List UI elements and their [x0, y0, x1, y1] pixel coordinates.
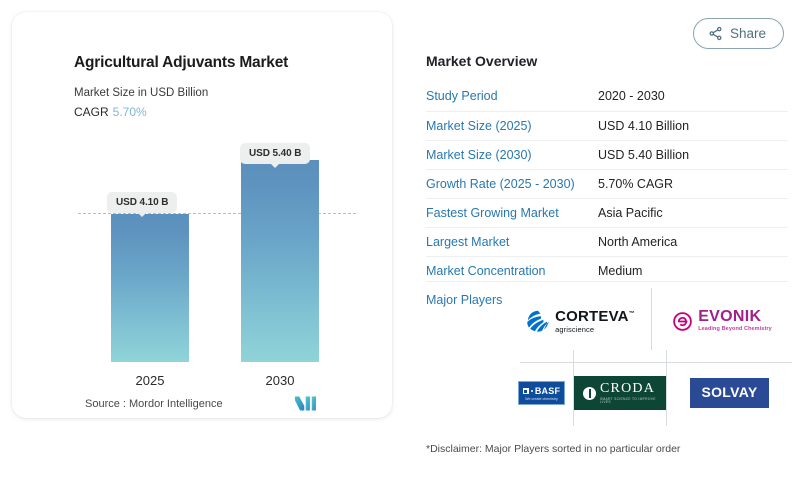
evonik-logo: EVONIK Leading Beyond Chemistry: [672, 309, 772, 333]
share-nodes-icon: [708, 26, 723, 41]
row-value-market-size-2030: USD 5.40 Billion: [598, 140, 788, 169]
row-value-growth-rate: 5.70% CAGR: [598, 169, 788, 198]
table-row: Growth Rate (2025 - 2030) 5.70% CAGR: [426, 169, 788, 198]
share-button[interactable]: Share: [693, 18, 784, 49]
corteva-wordmark: CORTEVA™: [555, 309, 635, 324]
croda-wordmark: CRODA: [600, 382, 657, 396]
table-row: Market Size (2030) USD 5.40 Billion: [426, 140, 788, 169]
corteva-logo: CORTEVA™ agriscience: [526, 309, 635, 334]
basf-square-icon: [523, 388, 529, 394]
market-overview-panel: Share Market Overview Study Period 2020 …: [424, 0, 792, 482]
basf-row: BASF: [523, 386, 560, 396]
bar-label-2025: USD 4.10 B: [107, 192, 177, 213]
table-row: Market Size (2025) USD 4.10 Billion: [426, 111, 788, 140]
bar-2025[interactable]: [111, 214, 189, 362]
grid-divider-horizontal: [520, 362, 792, 363]
table-row: Largest Market North America: [426, 227, 788, 256]
x-tick-2030: 2030: [241, 373, 319, 388]
croda-logo: CRODA SMART SCIENCE TO IMPROVE LIVES: [574, 376, 666, 411]
table-row: Fastest Growing Market Asia Pacific: [426, 198, 788, 227]
basf-dot-icon: [531, 390, 533, 392]
table-row: Study Period 2020 - 2030: [426, 82, 788, 111]
player-cell-evonik[interactable]: EVONIK Leading Beyond Chemistry: [652, 292, 792, 350]
market-overview-table: Study Period 2020 - 2030 Market Size (20…: [426, 82, 788, 285]
row-key-growth-rate: Growth Rate (2025 - 2030): [426, 169, 598, 198]
row-value-fastest-growing-market: Asia Pacific: [598, 198, 788, 227]
source-label: Source : Mordor Intelligence: [85, 398, 223, 410]
solvay-logo: SOLVAY: [690, 378, 768, 408]
row-key-market-size-2025: Market Size (2025): [426, 111, 598, 140]
player-cell-corteva[interactable]: CORTEVA™ agriscience: [510, 292, 651, 350]
chart-card: Agricultural Adjuvants Market Market Siz…: [12, 12, 392, 418]
panel-heading: Market Overview: [426, 53, 537, 69]
croda-emblem-icon: [583, 387, 596, 400]
row-key-study-period: Study Period: [426, 82, 598, 111]
bar-chart-plot: USD 4.10 B USD 5.40 B 2025 2030: [12, 12, 392, 418]
bar-label-2030: USD 5.40 B: [240, 143, 310, 164]
row-key-fastest-growing-market: Fastest Growing Market: [426, 198, 598, 227]
players-divider: [426, 281, 788, 282]
solvay-wordmark: SOLVAY: [701, 384, 757, 400]
corteva-swoosh-icon: [526, 309, 550, 333]
player-cell-croda[interactable]: CRODA SMART SCIENCE TO IMPROVE LIVES: [574, 368, 666, 418]
evonik-text: EVONIK Leading Beyond Chemistry: [698, 309, 772, 333]
evonik-wordmark: EVONIK: [698, 309, 772, 325]
row-value-market-size-2025: USD 4.10 Billion: [598, 111, 788, 140]
corteva-word-text: CORTEVA: [555, 308, 629, 325]
basf-logo: BASF We create chemistry: [518, 381, 565, 405]
basf-tagline: We create chemistry: [525, 397, 558, 401]
player-cell-solvay[interactable]: SOLVAY: [667, 368, 792, 418]
player-cell-basf[interactable]: BASF We create chemistry: [510, 368, 573, 418]
mordor-intelligence-logo: [294, 395, 322, 412]
evonik-e-circle-icon: [672, 311, 693, 332]
major-players-grid: CORTEVA™ agriscience EVONIK Leading Beyo…: [510, 288, 792, 426]
bar-2030[interactable]: [241, 160, 319, 362]
row-key-market-size-2030: Market Size (2030): [426, 140, 598, 169]
corteva-text: CORTEVA™ agriscience: [555, 309, 635, 334]
row-key-largest-market: Largest Market: [426, 227, 598, 256]
croda-tagline: SMART SCIENCE TO IMPROVE LIVES: [600, 398, 657, 405]
evonik-tagline: Leading Beyond Chemistry: [698, 327, 772, 333]
croda-text: CRODA SMART SCIENCE TO IMPROVE LIVES: [600, 382, 657, 405]
row-value-study-period: 2020 - 2030: [598, 82, 788, 111]
corteva-trademark: ™: [629, 311, 635, 317]
disclaimer-text: *Disclaimer: Major Players sorted in no …: [426, 443, 680, 455]
x-tick-2025: 2025: [111, 373, 189, 388]
share-button-label: Share: [730, 26, 766, 41]
major-players-label: Major Players: [426, 293, 502, 307]
basf-wordmark: BASF: [535, 386, 560, 396]
corteva-tagline: agriscience: [555, 326, 635, 334]
row-value-largest-market: North America: [598, 227, 788, 256]
